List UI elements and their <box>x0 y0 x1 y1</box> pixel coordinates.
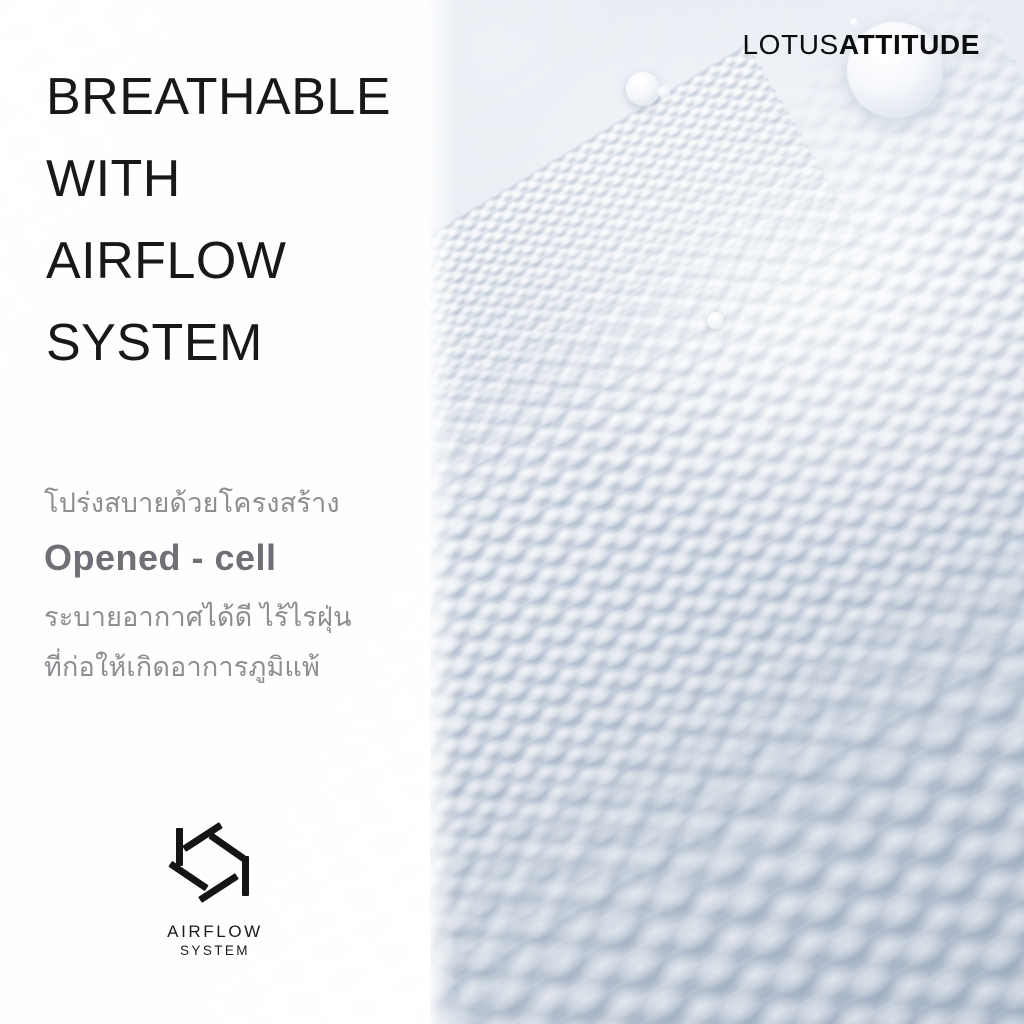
left-content-panel: BREATHABLE WITH AIRFLOW SYSTEM โปร่งสบาย… <box>0 0 430 1024</box>
brand-logo: LOTUSATTITUDE <box>742 28 980 62</box>
water-droplet-small <box>707 312 724 329</box>
water-droplet-medium <box>626 72 660 106</box>
logo-subtitle: SYSTEM <box>0 942 430 960</box>
hexagon-segment-right <box>242 856 249 896</box>
body-line-3: ระบายอากาศได้ดี ไร้ไรฝุ่น <box>44 596 424 638</box>
poster-canvas: BREATHABLE WITH AIRFLOW SYSTEM โปร่งสบาย… <box>0 0 1024 1024</box>
logo-wordmark: AIRFLOW SYSTEM <box>0 922 430 960</box>
hexagon-segment-bottom-left <box>168 861 208 891</box>
body-emphasis-opened-cell: Opened - cell <box>44 530 424 586</box>
water-droplet-tiny-1 <box>850 18 859 27</box>
photo-depth-shading <box>430 0 1024 1024</box>
body-copy-block: โปร่งสบายด้วยโครงสร้าง Opened - cell ระบ… <box>44 482 424 692</box>
brand-name-bold: ATTITUDE <box>839 29 980 60</box>
logo-title: AIRFLOW <box>0 922 430 942</box>
product-texture-photo: LOTUSATTITUDE <box>430 0 1024 1024</box>
page-title: BREATHABLE WITH AIRFLOW SYSTEM <box>46 56 418 384</box>
body-line-4: ที่ก่อให้เกิดอาการภูมิแพ้ <box>44 646 424 688</box>
body-line-1: โปร่งสบายด้วยโครงสร้าง <box>44 482 424 524</box>
broken-hexagon-icon <box>163 812 267 916</box>
water-droplet-tiny-2 <box>736 222 744 230</box>
photo-left-edge-fade <box>430 0 456 1024</box>
brand-name-light: LOTUS <box>742 29 838 60</box>
airflow-system-logo: AIRFLOW SYSTEM <box>0 812 430 960</box>
water-droplet-satellite <box>658 86 670 98</box>
